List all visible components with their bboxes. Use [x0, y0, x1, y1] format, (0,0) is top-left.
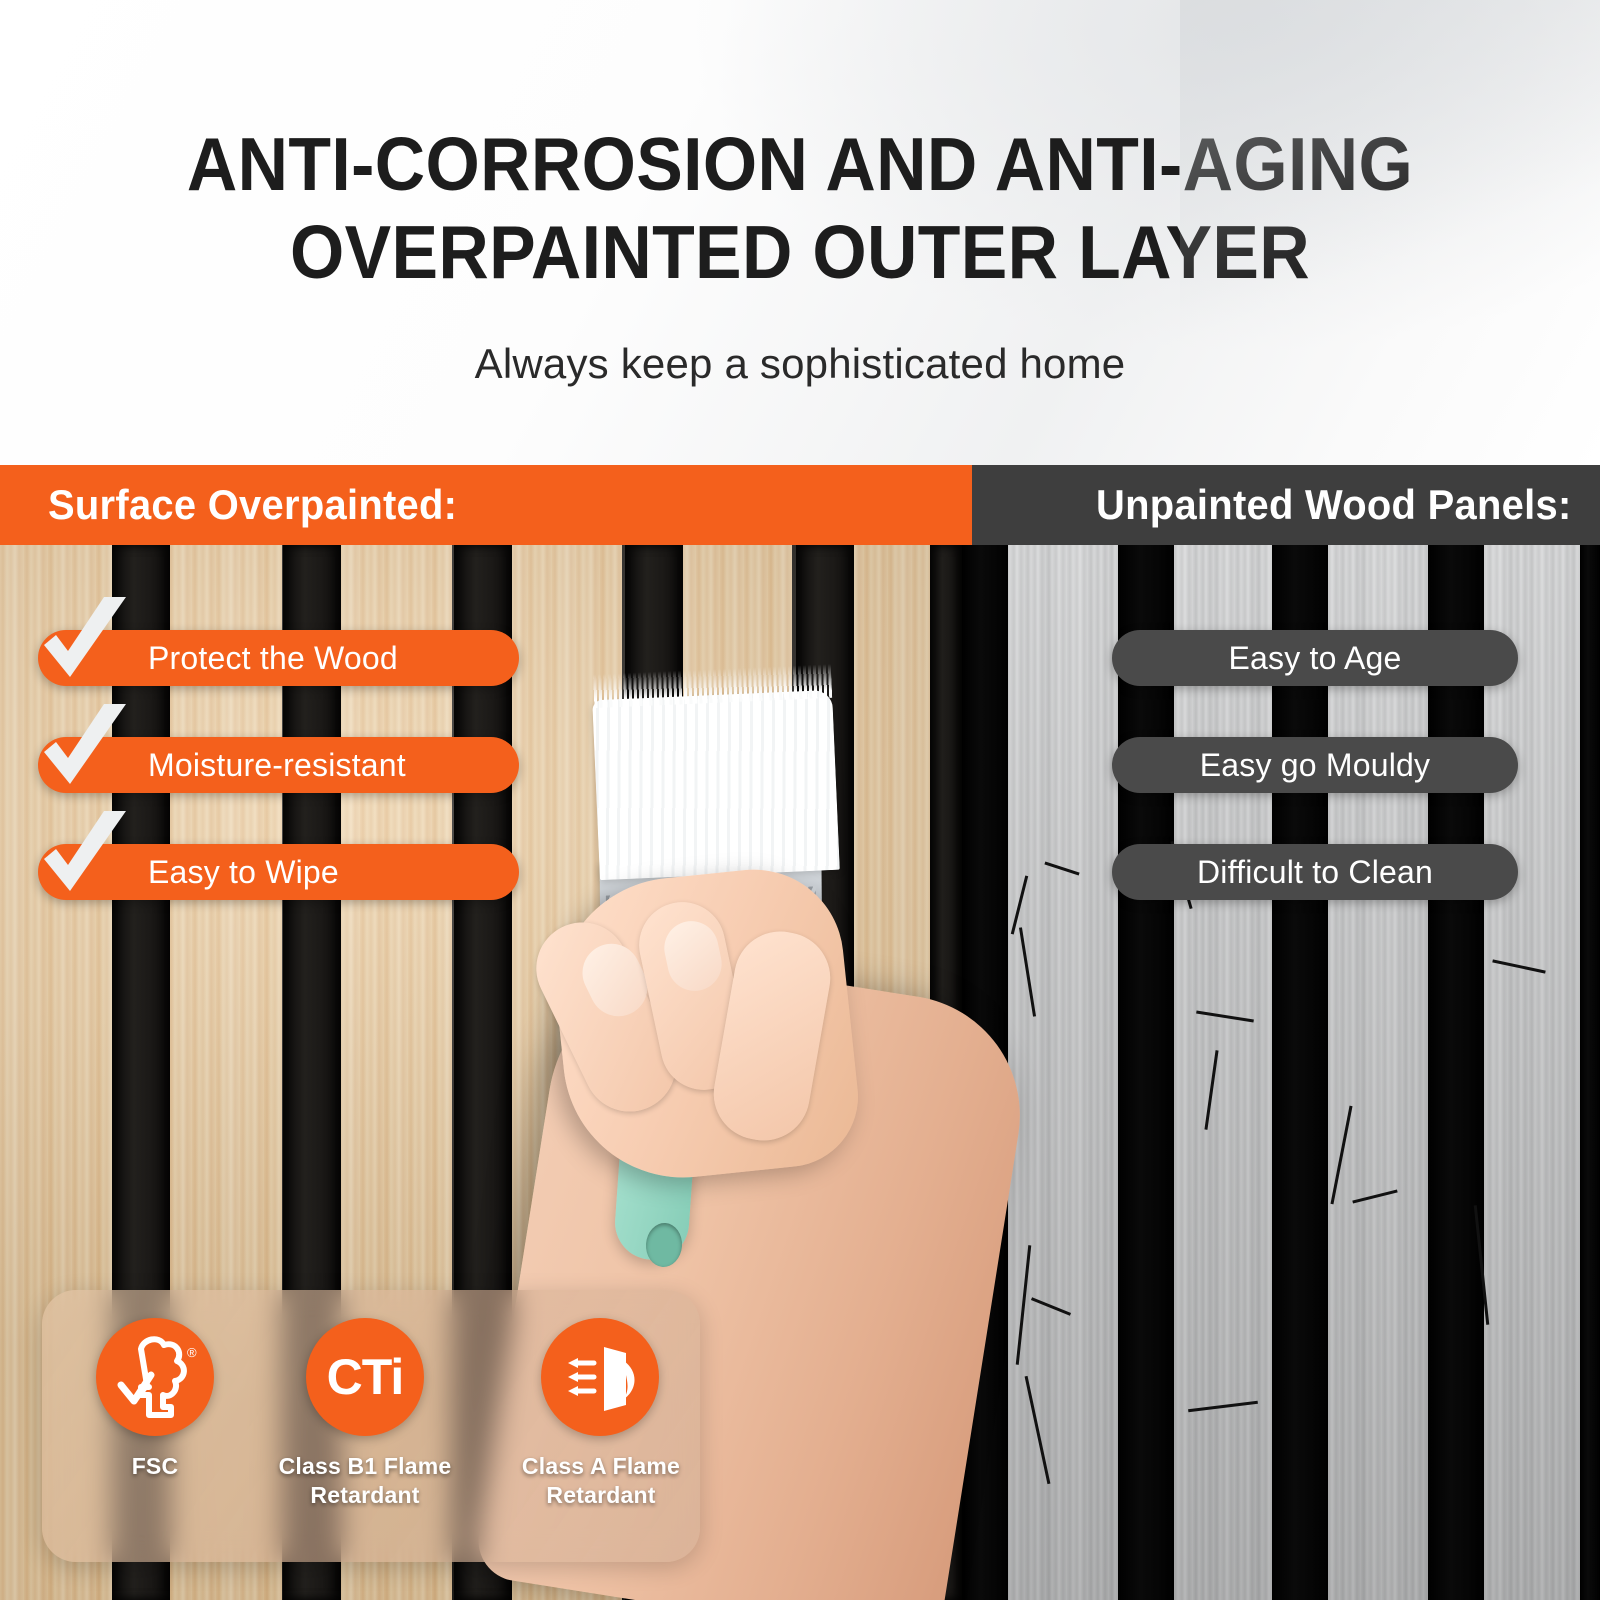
list-item[interactable]: Difficult to Clean [1112, 844, 1518, 900]
slat-gap [1118, 545, 1174, 1600]
flame-panel-icon [554, 1331, 646, 1423]
flame-badge-label: Class A Flame Retardant [476, 1452, 726, 1510]
slat-gap [1428, 545, 1484, 1600]
left-column-heading: Surface Overpainted: [48, 481, 457, 529]
pill-label: Difficult to Clean [1197, 854, 1433, 891]
cti-text-icon: CTi [327, 1348, 404, 1406]
fsc-badge-label: FSC [96, 1452, 214, 1481]
page-subtitle: Always keep a sophisticated home [0, 340, 1600, 388]
list-item[interactable]: Easy go Mouldy [1112, 737, 1518, 793]
pill-label: Moisture-resistant [148, 747, 406, 784]
pill-label: Easy to Age [1229, 640, 1402, 677]
left-column-header: Surface Overpainted: [0, 465, 972, 545]
list-item[interactable]: Protect the Wood [38, 630, 519, 686]
right-column-heading: Unpainted Wood Panels: [1097, 481, 1572, 529]
title-line-1: ANTI-CORROSION AND ANTI-AGING [56, 120, 1544, 208]
list-item[interactable]: Easy to Age [1112, 630, 1518, 686]
flame-badge[interactable] [541, 1318, 659, 1436]
registered-mark: ® [187, 1345, 197, 1360]
fsc-badge[interactable]: ® [96, 1318, 214, 1436]
list-item[interactable]: Easy to Wipe [38, 844, 519, 900]
cti-badge-label: Class B1 Flame Retardant [236, 1452, 494, 1510]
certification-strip: ® FSC CTi Class B1 Flame Retardant [42, 1290, 700, 1562]
list-item[interactable]: Moisture-resistant [38, 737, 519, 793]
pill-label: Easy go Mouldy [1200, 747, 1430, 784]
cti-badge[interactable]: CTi [306, 1318, 424, 1436]
slat-gap [1580, 545, 1600, 1600]
slat-gap [1272, 545, 1328, 1600]
comparison-photo: Protect the Wood Moisture-resistant Easy… [0, 545, 1600, 1600]
infographic-page: ANTI-CORROSION AND ANTI-AGING OVERPAINTE… [0, 0, 1600, 1600]
header-section: ANTI-CORROSION AND ANTI-AGING OVERPAINTE… [0, 0, 1600, 465]
right-column-header: Unpainted Wood Panels: [972, 465, 1600, 545]
fsc-tree-check-icon: ® [107, 1329, 203, 1425]
pill-label: Protect the Wood [148, 640, 398, 677]
pill-label: Easy to Wipe [148, 854, 339, 891]
title-line-2: OVERPAINTED OUTER LAYER [56, 208, 1544, 296]
paintbrush-bristles [592, 690, 840, 880]
page-title: ANTI-CORROSION AND ANTI-AGING OVERPAINTE… [56, 120, 1544, 296]
